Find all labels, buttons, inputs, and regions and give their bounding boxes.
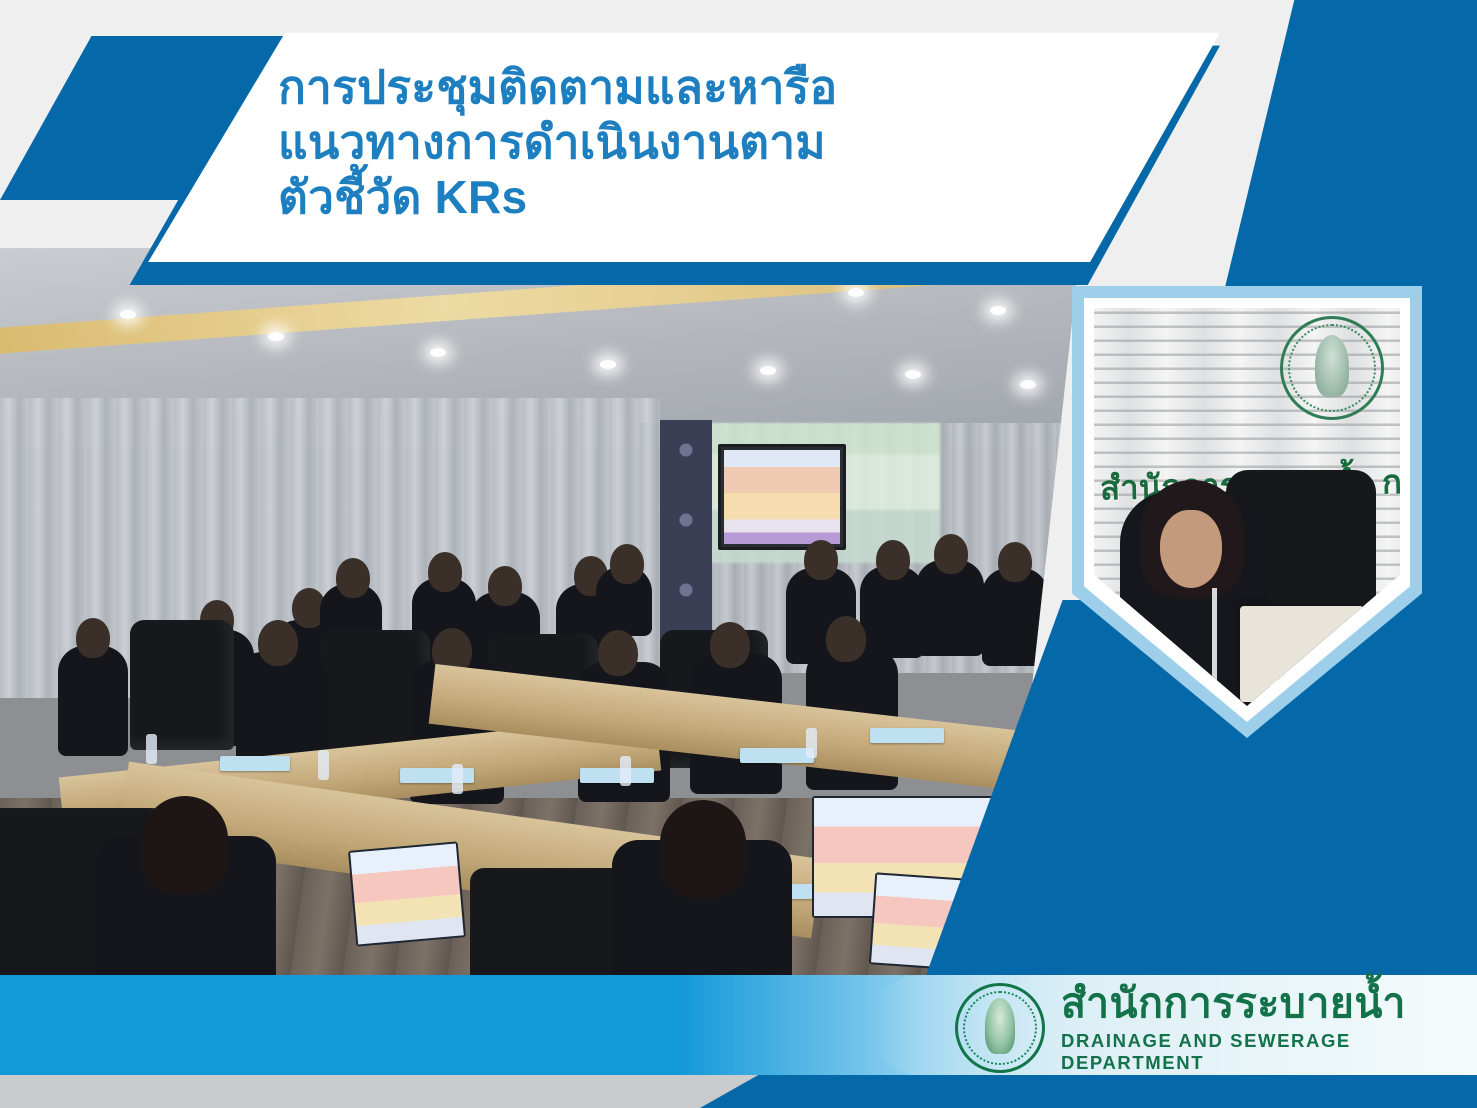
office-chair (130, 620, 234, 750)
poster-canvas: การประชุมติดตามและหารือ แนวทางการดำเนินง… (0, 0, 1477, 1108)
attendee (916, 560, 984, 656)
attendee-head (142, 796, 228, 894)
ceiling-light-icon (848, 288, 864, 297)
bma-garuda-seal-icon (955, 983, 1045, 1073)
bma-seal-icon (1280, 316, 1384, 420)
name-plate (870, 728, 944, 743)
attendee-head (598, 630, 638, 676)
attendee-head (76, 618, 110, 658)
ceiling-light-icon (990, 306, 1006, 315)
ceiling-light-icon (268, 332, 284, 341)
footer-strip-gray (0, 1075, 760, 1108)
attendee-head (876, 540, 910, 580)
name-plate (580, 768, 654, 783)
department-logo-text: สำนักการระบายน้ำ DRAINAGE AND SEWERAGE D… (1061, 982, 1477, 1073)
water-bottle (146, 734, 157, 764)
attendee-head (826, 616, 866, 662)
water-bottle (318, 750, 329, 780)
attendee-head (998, 542, 1032, 582)
ceiling-light-icon (760, 366, 776, 375)
attendee (982, 568, 1048, 666)
department-name-english: DRAINAGE AND SEWERAGE DEPARTMENT (1061, 1030, 1477, 1074)
ceiling-light-icon (430, 348, 446, 357)
ceiling-light-icon (905, 370, 921, 379)
ceiling-light-icon (1020, 380, 1036, 389)
water-bottle (620, 756, 631, 786)
attendee-head (660, 800, 746, 898)
speaker-face (1160, 510, 1222, 588)
water-bottle (806, 728, 817, 758)
attendee-head (488, 566, 522, 606)
department-name-thai: สำนักการระบายน้ำ (1061, 982, 1477, 1025)
water-bottle (452, 764, 463, 794)
wall-mounted-screen (718, 444, 846, 550)
attendee-head (710, 622, 750, 668)
attendee-head (428, 552, 462, 592)
department-logo: สำนักการระบายน้ำ DRAINAGE AND SEWERAGE D… (955, 985, 1477, 1071)
tablet-screen (348, 841, 466, 946)
footer-strip-blue (700, 1075, 1477, 1108)
ceiling-light-icon (120, 310, 136, 319)
name-plate (740, 748, 814, 763)
name-plate (220, 756, 290, 771)
attendee (58, 646, 128, 756)
attendee-head (258, 620, 298, 666)
page-title: การประชุมติดตามและหารือ แนวทางการดำเนินง… (278, 60, 998, 226)
main-meeting-photo (0, 248, 1080, 978)
ceiling-light-icon (600, 360, 616, 369)
attendee-head (934, 534, 968, 574)
attendee-head (610, 544, 644, 584)
inset-photo-frame: สำนักการระบายน้ำ กรุ (1072, 286, 1422, 738)
attendee-head (804, 540, 838, 580)
attendee-head (336, 558, 370, 598)
